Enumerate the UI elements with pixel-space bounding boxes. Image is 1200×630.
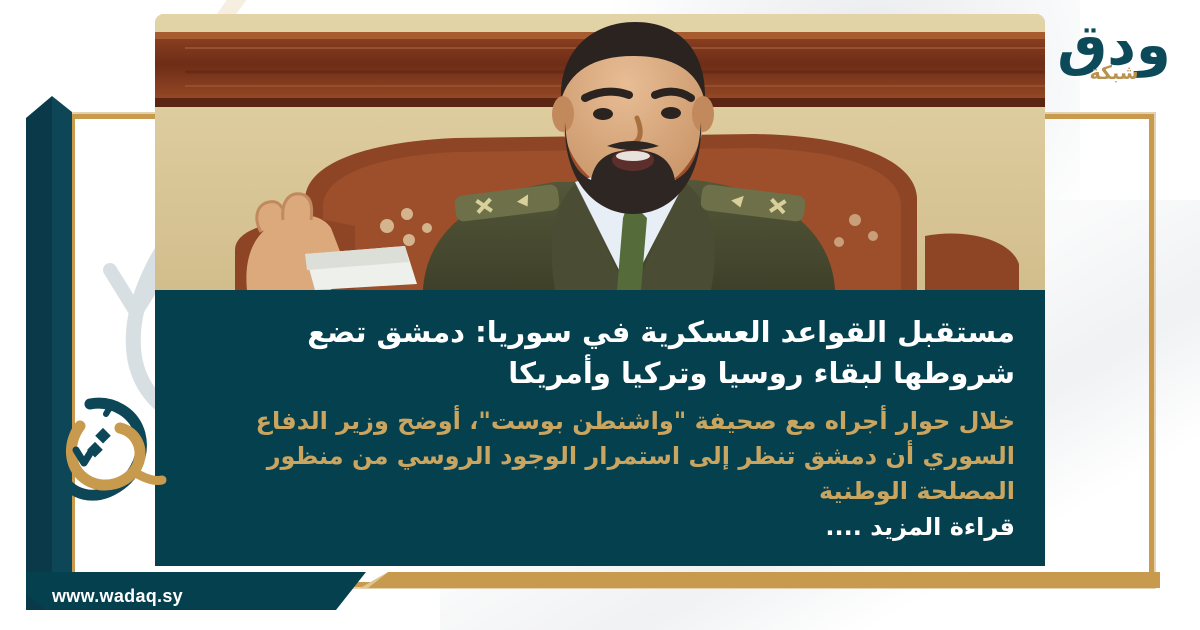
article-text-panel: مستقبل القواعد العسكرية في سوريا: دمشق ت…: [155, 290, 1045, 566]
site-url[interactable]: www.wadaq.sy: [52, 586, 183, 607]
news-card: www.wadaq.sy: [0, 0, 1200, 630]
read-more-link[interactable]: قراءة المزيد ....: [185, 511, 1015, 545]
article-headline: مستقبل القواعد العسكرية في سوريا: دمشق ت…: [185, 312, 1015, 394]
brand-logo[interactable]: ودق شبكة: [1050, 18, 1178, 114]
article-summary: خلال حوار أجراه مع صحيفة "واشنطن بوست"، …: [185, 404, 1015, 509]
wadaq-emblem-icon: [46, 386, 178, 518]
article-photo: [155, 14, 1045, 290]
gold-accent-stripe: [360, 572, 1160, 598]
